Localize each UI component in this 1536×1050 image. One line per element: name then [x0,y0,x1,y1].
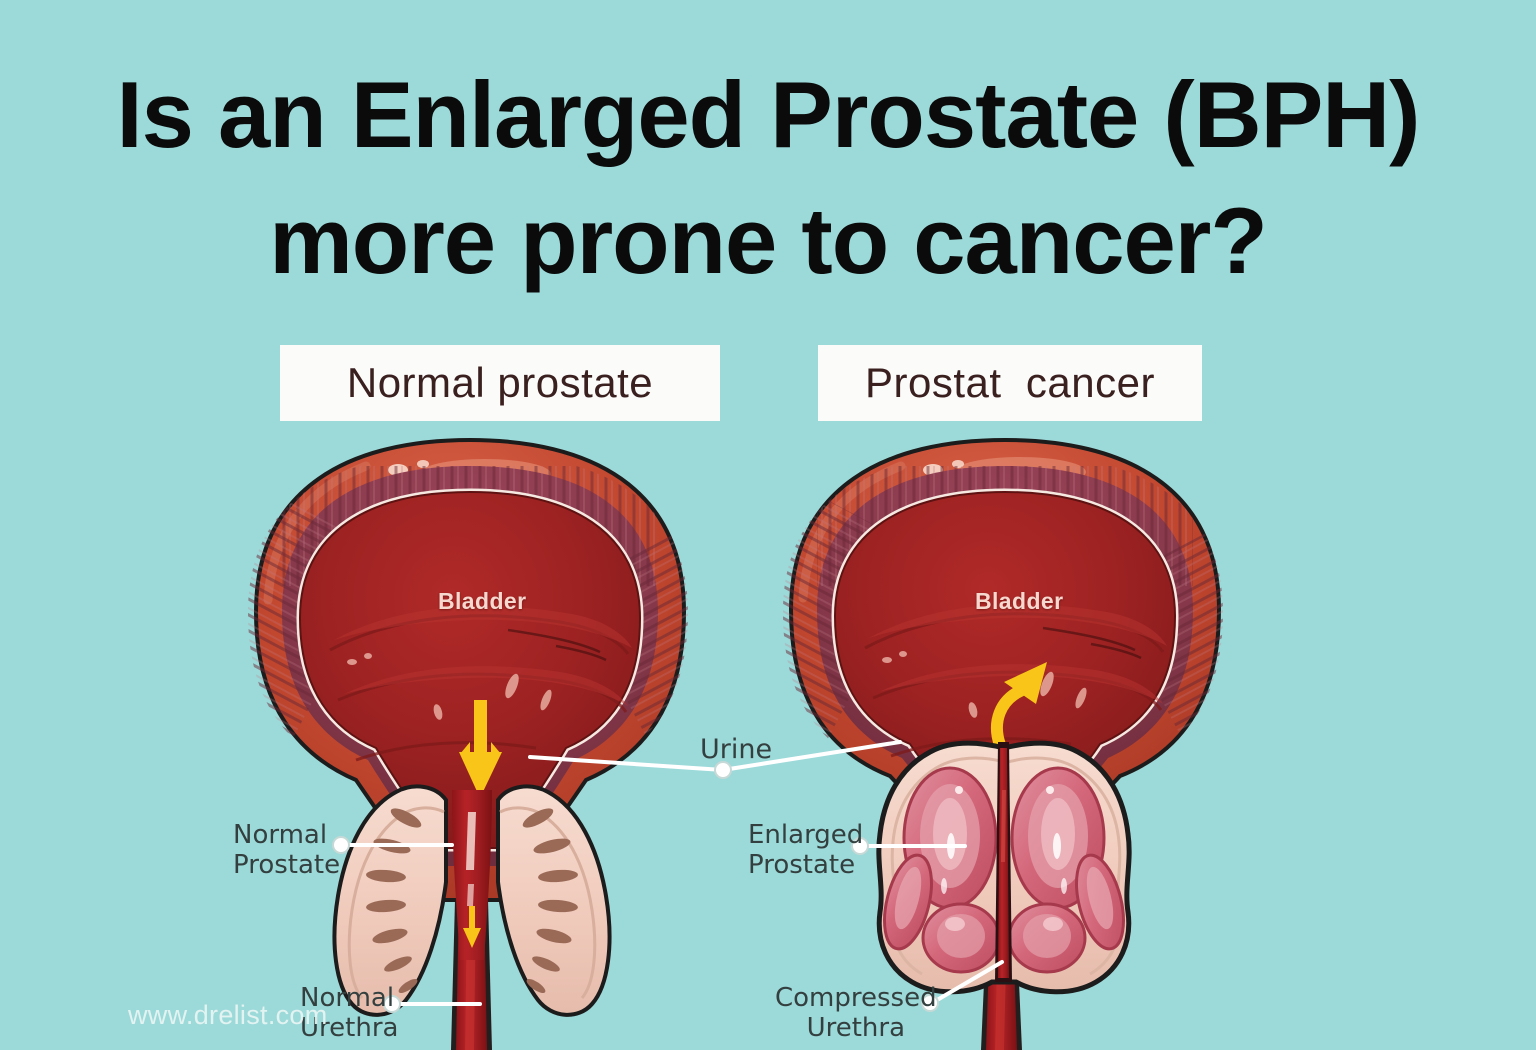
enlarged-prostate-figure [708,440,1321,1050]
prostate-nodule-lower-right [1009,904,1085,972]
annotation-enlarged-prostate: Enlarged Prostate [748,820,863,880]
infographic-canvas: Is an Enlarged Prostate (BPH) more prone… [0,0,1536,1050]
annotation-compressed-urethra: Compressed Urethra [775,983,937,1043]
anatomy-illustrations [0,0,1536,1050]
organ-label-bladder-left: Bladder [438,588,526,615]
annotation-urine: Urine [700,735,772,765]
organ-label-bladder-right: Bladder [975,588,1063,615]
urethra-specular-2 [467,884,474,906]
annotation-normal-prostate: Normal Prostate [233,820,340,880]
normal-prostate-figure [173,440,786,1050]
prostate-nodule-lower-left [923,904,999,972]
site-watermark: www.drelist.com [128,1000,328,1031]
